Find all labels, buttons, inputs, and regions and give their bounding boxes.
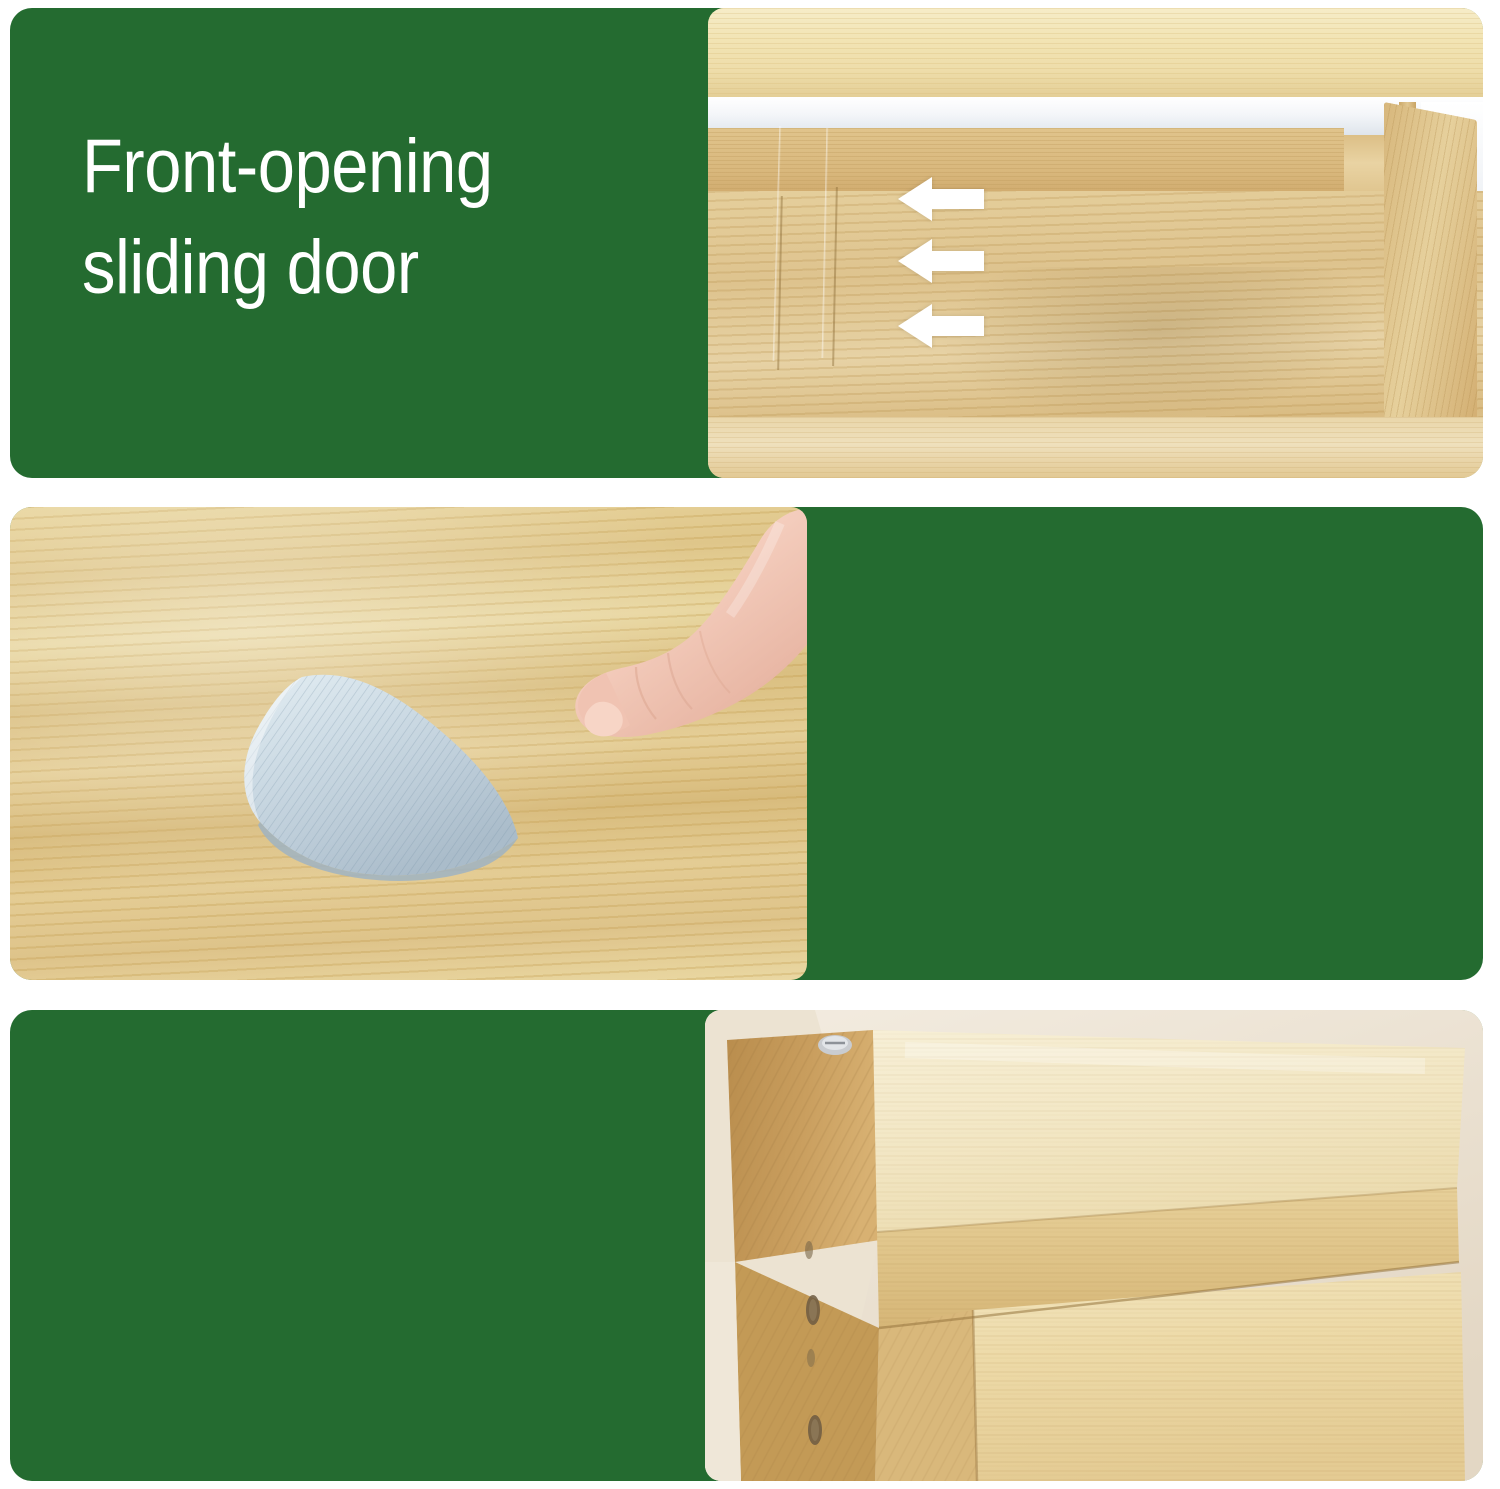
right-side-rail	[1384, 102, 1477, 449]
left-arrow-icon	[898, 238, 984, 284]
shelf-back-board	[708, 128, 1344, 199]
feature-panel-removable-bottom: Removable clear bottom panel, moisture-p…	[10, 507, 1483, 980]
sliding-door-shelf-photo	[708, 8, 1483, 478]
wood-corner-joint-photo	[705, 1010, 1483, 1481]
panel-caption-sliding-door: Front-opening sliding door	[82, 116, 698, 318]
floor-shadow	[921, 267, 1386, 422]
front-lip-board	[708, 417, 1483, 478]
wiping-hand-photo	[10, 507, 807, 980]
top-shelf-board	[708, 8, 1483, 97]
hand-wiping	[400, 507, 807, 837]
left-arrow-icon	[898, 303, 984, 349]
feature-panel-thickened-material: Thickened material, stable structure	[10, 1010, 1483, 1481]
wood-corner-illustration	[705, 1010, 1483, 1481]
feature-panel-sliding-door: Front-opening sliding door	[10, 8, 1483, 478]
product-feature-infographic: Front-opening sliding door	[0, 0, 1500, 1489]
left-arrow-icon	[898, 176, 984, 222]
